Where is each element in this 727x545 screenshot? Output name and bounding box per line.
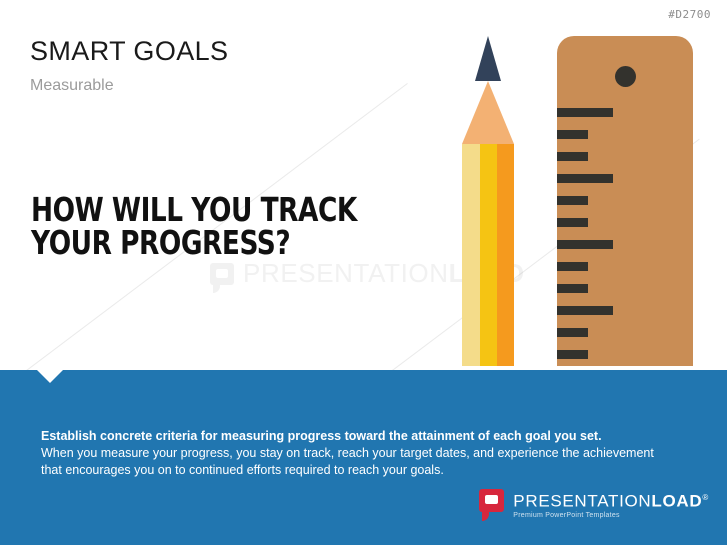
ruler-tick-long <box>557 306 613 315</box>
presentationload-logo[interactable]: PRESENTATIONLOAD® Premium PowerPoint Tem… <box>479 489 709 519</box>
document-id-label: #D2700 <box>668 8 711 21</box>
pencil-tip-icon <box>475 36 501 81</box>
ruler-tick-short <box>557 218 588 227</box>
headline-question: HOW WILL YOU TRACK YOUR PROGRESS? <box>31 193 357 259</box>
ruler-tick-short <box>557 328 588 337</box>
ruler-tick-short <box>557 196 588 205</box>
logo-text-wrap: PRESENTATIONLOAD® Premium PowerPoint Tem… <box>513 489 709 519</box>
pencil-stripe-orange <box>497 144 514 366</box>
pencil-wood-cone <box>462 81 514 144</box>
page-title: SMART GOALS <box>30 36 228 67</box>
callout-text: Establish concrete criteria for measurin… <box>41 428 671 479</box>
speech-bubble-icon <box>479 489 504 512</box>
logo-tagline: Premium PowerPoint Templates <box>513 512 709 519</box>
ruler-tick-long <box>557 240 613 249</box>
ruler-tick-short <box>557 350 588 359</box>
callout-notch <box>37 370 63 383</box>
callout-lead: Establish concrete criteria for measurin… <box>41 428 671 445</box>
ruler-tick-long <box>557 108 613 117</box>
logo-trademark: ® <box>702 493 709 502</box>
ruler-tick-long <box>557 174 613 183</box>
slide-canvas: #D2700 SMART GOALS Measurable HOW WILL Y… <box>0 0 727 545</box>
ruler-tick-short <box>557 130 588 139</box>
logo-brand-light: PRESENTATION <box>513 492 651 511</box>
ruler-tick-short <box>557 284 588 293</box>
ruler-hole-icon <box>615 66 636 87</box>
ruler-illustration <box>557 36 693 366</box>
pencil-stripe-yellow <box>480 144 497 366</box>
speech-bubble-icon <box>210 263 234 285</box>
callout-body: When you measure your progress, you stay… <box>41 445 671 479</box>
pencil-body <box>462 144 514 366</box>
logo-brand-bold: LOAD <box>651 492 702 511</box>
ruler-tick-short <box>557 152 588 161</box>
watermark-text-light: PRESENTATION <box>243 258 449 288</box>
page-subtitle: Measurable <box>30 77 114 95</box>
ruler-tick-short <box>557 262 588 271</box>
pencil-stripe-light <box>462 144 480 366</box>
pencil-illustration <box>462 36 514 366</box>
logo-brand: PRESENTATIONLOAD® <box>513 489 709 511</box>
